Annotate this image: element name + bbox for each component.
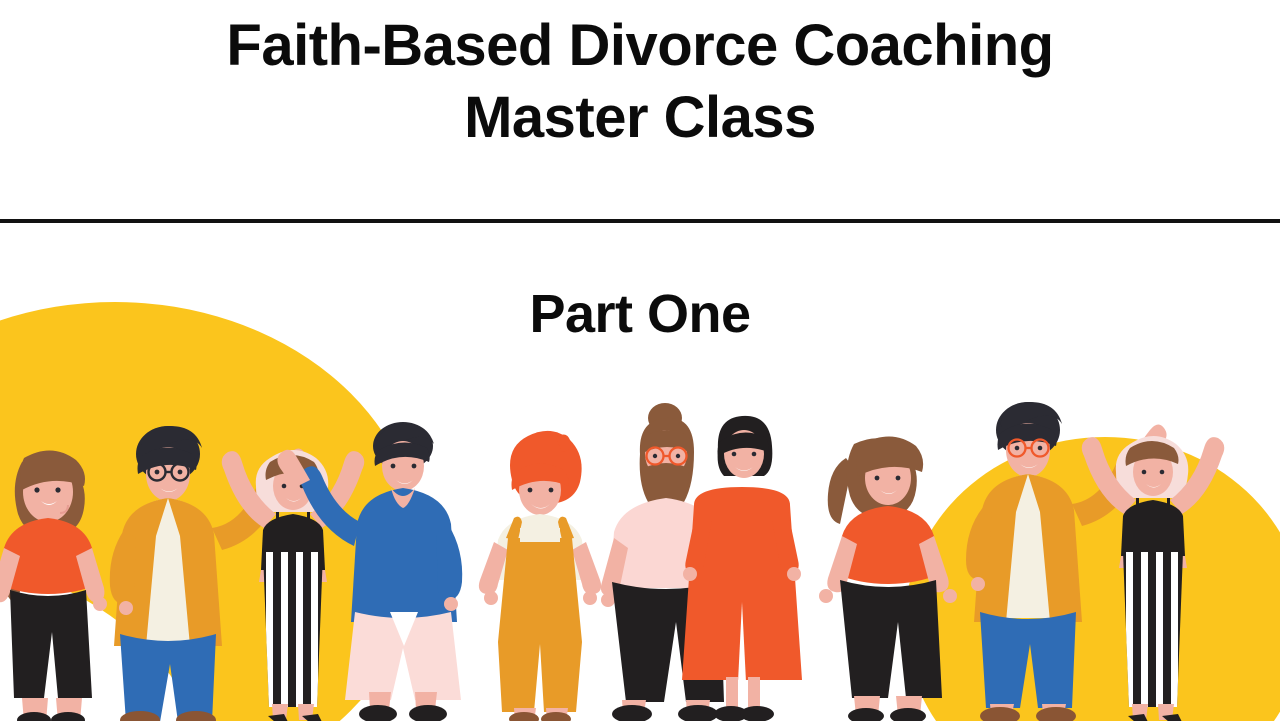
header-divider <box>0 219 1280 223</box>
page-title-line-2: Master Class <box>464 84 816 152</box>
slide-canvas: Part One Faith-Based Divorce Coaching Ma… <box>0 0 1280 721</box>
page-title-line-1: Faith-Based Divorce Coaching <box>226 12 1053 80</box>
slide-subtitle: Part One <box>0 283 1280 345</box>
slide-header: Faith-Based Divorce Coaching Master Clas… <box>0 0 1280 222</box>
